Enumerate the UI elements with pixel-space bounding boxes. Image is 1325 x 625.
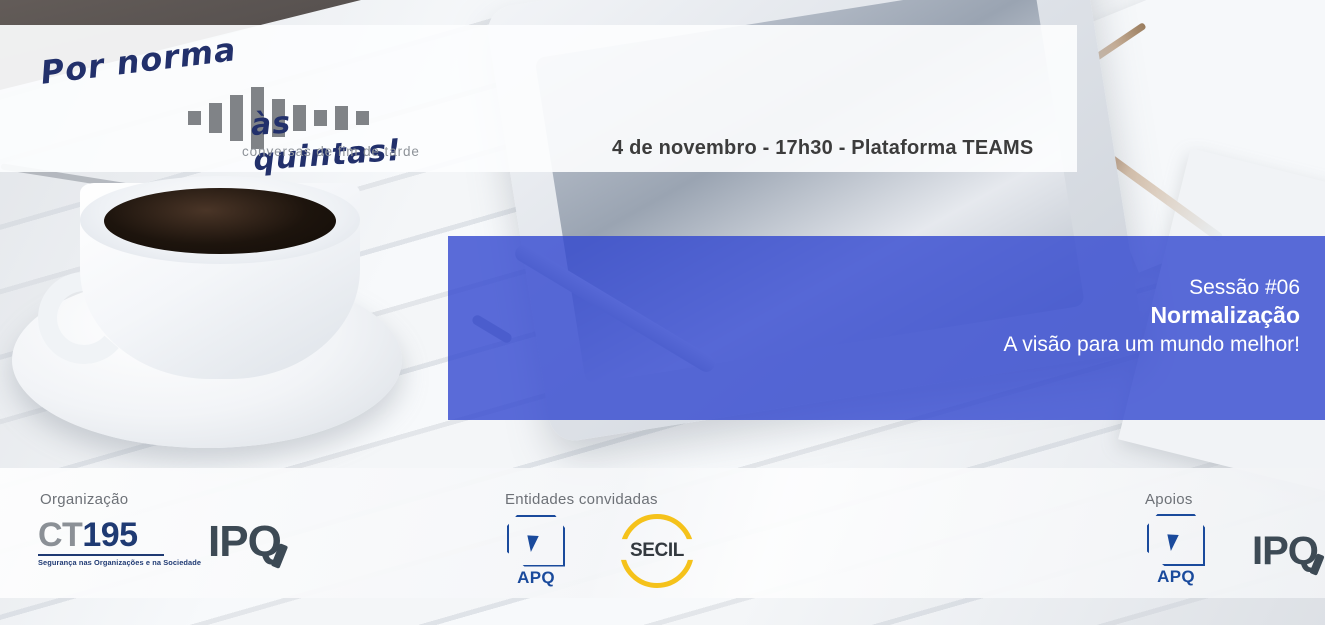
entidades-label: Entidades convidadas	[505, 491, 658, 508]
ipq-logo: IPQ	[1252, 531, 1318, 571]
footer-section-apoios: Apoios APQ IPQ	[1140, 468, 1325, 598]
ct195-tagline: Segurança nas Organizações e na Sociedad…	[38, 558, 168, 567]
apq-logo: APQ	[500, 515, 572, 588]
logo-line-2: às quintas!	[250, 96, 430, 178]
ipq-wordmark: IPQ	[1252, 531, 1318, 571]
session-number: Sessão #06	[740, 274, 1300, 301]
ct195-wordmark: CT195	[38, 518, 168, 552]
event-date-line: 4 de novembro - 17h30 - Plataforma TEAMS	[612, 137, 1033, 160]
apoios-logos: APQ IPQ	[1140, 514, 1318, 587]
footer-section-organizacao: Organização CT195 Segurança nas Organiza…	[38, 468, 358, 598]
entidades-logos: APQ SECIL	[500, 514, 694, 588]
apq-hexagon-icon	[1147, 514, 1205, 566]
session-text-block: Sessão #06 Normalização A visão para um …	[740, 274, 1300, 358]
waveform-bar	[230, 95, 243, 141]
secil-wordmark: SECIL	[620, 540, 694, 562]
waveform-bar	[188, 111, 201, 125]
apq-logo: APQ	[1140, 514, 1212, 587]
apq-wordmark: APQ	[1140, 567, 1212, 587]
organizacao-label: Organização	[40, 491, 128, 508]
organizacao-logos: CT195 Segurança nas Organizações e na So…	[38, 518, 281, 567]
footer-band: Organização CT195 Segurança nas Organiza…	[0, 468, 1325, 598]
footer-section-entidades: Entidades convidadas APQ SECIL	[500, 468, 830, 598]
apq-wordmark: APQ	[500, 568, 572, 588]
ipq-logo: IPQ	[208, 520, 281, 564]
ct195-logo: CT195 Segurança nas Organizações e na So…	[38, 518, 168, 567]
ct195-divider	[38, 554, 164, 556]
session-subtitle: A visão para um mundo melhor!	[740, 331, 1300, 358]
logo-tagline: conversas de fim de tarde	[242, 144, 420, 159]
session-title: Normalização	[740, 301, 1300, 331]
apq-hexagon-icon	[507, 515, 565, 567]
ct195-prefix: CT	[38, 516, 82, 554]
secil-logo: SECIL	[620, 514, 694, 588]
event-logo: Por norma às quintas! conversas de fim d…	[28, 32, 428, 167]
logo-line-1: Por norma	[38, 30, 238, 92]
coffee-liquid	[104, 188, 336, 254]
ipq-wordmark: IPQ	[208, 520, 281, 564]
apoios-label: Apoios	[1145, 491, 1193, 508]
ct195-number: 195	[82, 516, 137, 554]
waveform-bar	[209, 103, 222, 133]
